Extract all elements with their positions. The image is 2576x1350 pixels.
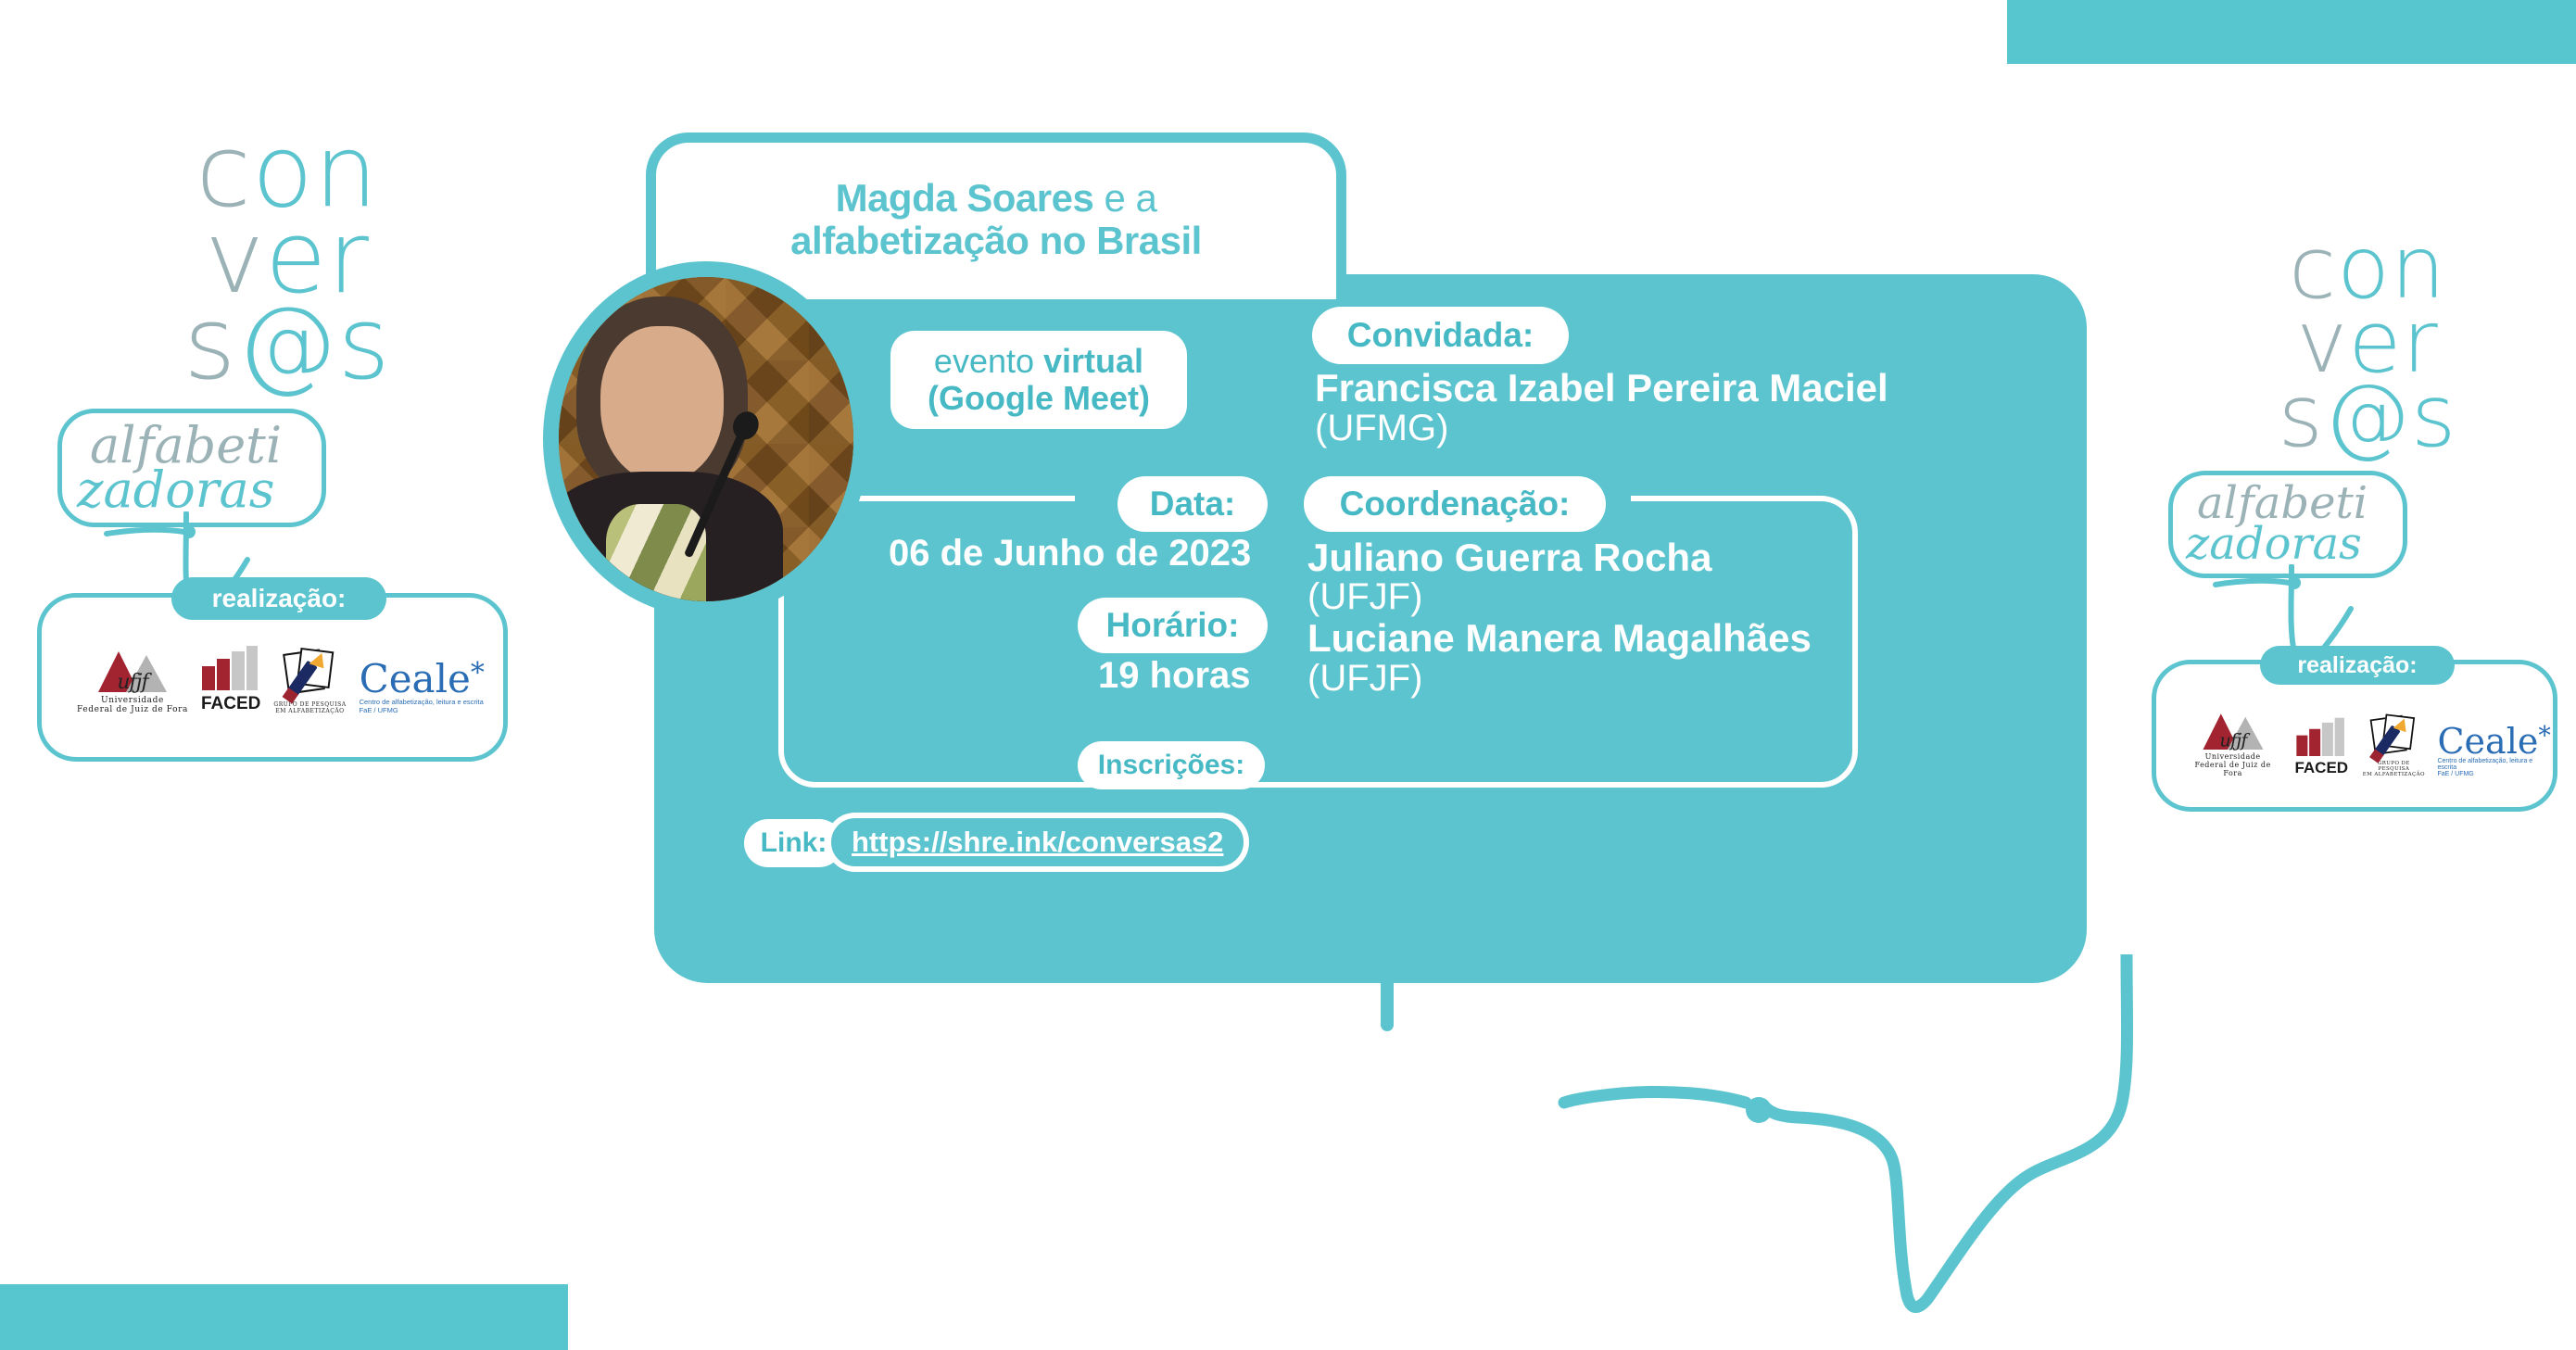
logo-at-s-right: @s	[2324, 366, 2456, 466]
title-strong: Magda Soares	[836, 176, 1094, 220]
ufjf-sub-2-right: Federal de Juiz de Fora	[2184, 761, 2281, 777]
ceale-logo: Ceale * Centro de alfabetização, leitura…	[360, 661, 485, 714]
title-line2: alfabetização no Brasil	[790, 219, 1202, 262]
corner-accent-top-right	[2007, 0, 2576, 64]
coordinator-2-org: (UFJF)	[1307, 658, 1422, 700]
ufjf-sub-1-right: Universidade	[2205, 752, 2261, 761]
conversas-wordmark-right: con ver s@s	[2159, 232, 2576, 454]
convidada-name: Francisca Izabel Pereira Maciel	[1315, 366, 1888, 410]
realizacao-label-left: realização:	[171, 577, 386, 620]
photo-face	[600, 326, 725, 482]
partner-logos-right: ufjf Universidade Federal de Juiz de For…	[2184, 707, 2553, 777]
ufjf-sub-1: Universidade	[101, 696, 164, 705]
logo-at-s: @s	[237, 286, 391, 402]
event-time: 19 horas	[1098, 655, 1251, 697]
logo-s: s	[183, 286, 236, 402]
title-rest: e a	[1093, 176, 1156, 220]
ufjf-wordmark-right: ufjf	[2203, 731, 2263, 751]
ceale-sub-1-right: Centro de alfabetização, leitura e escri…	[2437, 758, 2553, 771]
convidada-org: (UFMG)	[1315, 408, 1448, 449]
label-convidada: Convidada:	[1312, 307, 1569, 364]
ufjf-sub-2: Federal de Juiz de Fora	[77, 705, 188, 714]
ufjf-wordmark: ufjf	[98, 671, 167, 694]
event-mode-strong: virtual	[1043, 342, 1143, 380]
label-coordenacao: Coordenação:	[1304, 476, 1606, 532]
speech-bubble-tail	[1436, 954, 2178, 1316]
ufjf-mark-icon: ufjf	[98, 650, 167, 692]
event-mode-platform: (Google Meet)	[928, 380, 1150, 417]
logo-s-right: s	[2279, 366, 2324, 466]
faced-logo: FACED	[201, 646, 260, 714]
event-mode-light: evento	[934, 342, 1043, 380]
coordinator-1-org: (UFJF)	[1307, 576, 1422, 618]
ufjf-logo: ufjf Universidade Federal de Juiz de For…	[77, 650, 188, 714]
grupo-pesquisa-mark-icon	[284, 650, 335, 698]
grupo-pesquisa-alfabetizacao-logo-right: GRUPO DE PESQUISA EM ALFABETIZAÇÃO	[2361, 710, 2426, 777]
realizacao-box-left: realização: ufjf Universidade Federal de…	[37, 593, 508, 762]
event-date: 06 de Junho de 2023	[889, 533, 1251, 574]
realizacao-label-right: realização:	[2260, 646, 2455, 685]
grupo-pesquisa-sub-1-right: GRUPO DE PESQUISA	[2361, 761, 2426, 772]
grupo-pesquisa-sub-1: GRUPO DE PESQUISA	[273, 701, 346, 708]
grupo-pesquisa-sub-2: EM ALFABETIZAÇÃO	[275, 708, 344, 714]
ceale-wordmark: Ceale	[360, 661, 471, 698]
brand-block-right: con ver s@s alfabeti zadoras realização:…	[2131, 232, 2576, 1149]
faced-logo-right: FACED	[2292, 712, 2350, 777]
ceale-asterisk-right: *	[2538, 725, 2551, 749]
grupo-pesquisa-alfabetizacao-logo: GRUPO DE PESQUISA EM ALFABETIZAÇÃO	[273, 650, 346, 714]
realizacao-box-right: realização: ufjf Universidade Federal de…	[2152, 660, 2557, 812]
label-inscricoes: Inscrições:	[1078, 741, 1265, 789]
label-data: Data:	[1118, 476, 1268, 532]
script-zadoras-left: zadoras	[77, 465, 274, 515]
event-mode-pill: evento virtual (Google Meet)	[890, 331, 1187, 429]
ceale-sub-2-right: FaE / UFMG	[2437, 771, 2473, 777]
alfabetizadoras-bubble-left: alfabeti zadoras	[57, 409, 326, 527]
ufjf-mark-icon-right: ufjf	[2203, 713, 2263, 750]
faced-mark-icon	[202, 646, 259, 690]
corner-accent-bottom-left	[0, 1284, 568, 1350]
speaker-photo	[559, 277, 853, 601]
ceale-asterisk: *	[471, 661, 485, 688]
ceale-logo-right: Ceale * Centro de alfabetização, leitura…	[2437, 725, 2553, 777]
registration-link[interactable]: https://shre.ink/conversas2	[826, 813, 1249, 872]
coordinator-1-name: Juliano Guerra Rocha	[1307, 536, 1711, 580]
grupo-pesquisa-mark-icon-right	[2371, 715, 2417, 758]
speaker-avatar	[543, 261, 869, 617]
partner-logos-left: ufjf Universidade Federal de Juiz de For…	[77, 646, 485, 714]
ceale-wordmark-right: Ceale	[2437, 725, 2538, 758]
grupo-pesquisa-sub-2-right: EM ALFABETIZAÇÃO	[2363, 772, 2425, 777]
conversas-wordmark-left: con ver s@s	[46, 130, 528, 388]
faced-mark-icon-right	[2297, 718, 2346, 756]
faced-label: FACED	[201, 694, 260, 714]
coordinator-2-name: Luciane Manera Magalhães	[1307, 616, 1812, 661]
ceale-sub-1: Centro de alfabetização, leitura e escri…	[360, 698, 484, 706]
card-tail-nub	[1381, 978, 1394, 1031]
ufjf-logo-right: ufjf Universidade Federal de Juiz de For…	[2184, 707, 2281, 777]
script-zadoras-right: zadoras	[2186, 522, 2362, 566]
brand-block-left: con ver s@s alfabeti zadoras realização:…	[9, 130, 528, 1167]
ceale-sub-2: FaE / UFMG	[360, 706, 398, 714]
page-title: Magda Soares e a alfabetização no Brasil	[790, 177, 1202, 265]
faced-label-right: FACED	[2294, 759, 2348, 777]
alfabetizadoras-bubble-right: alfabeti zadoras	[2168, 471, 2407, 578]
label-horario: Horário:	[1078, 598, 1268, 653]
